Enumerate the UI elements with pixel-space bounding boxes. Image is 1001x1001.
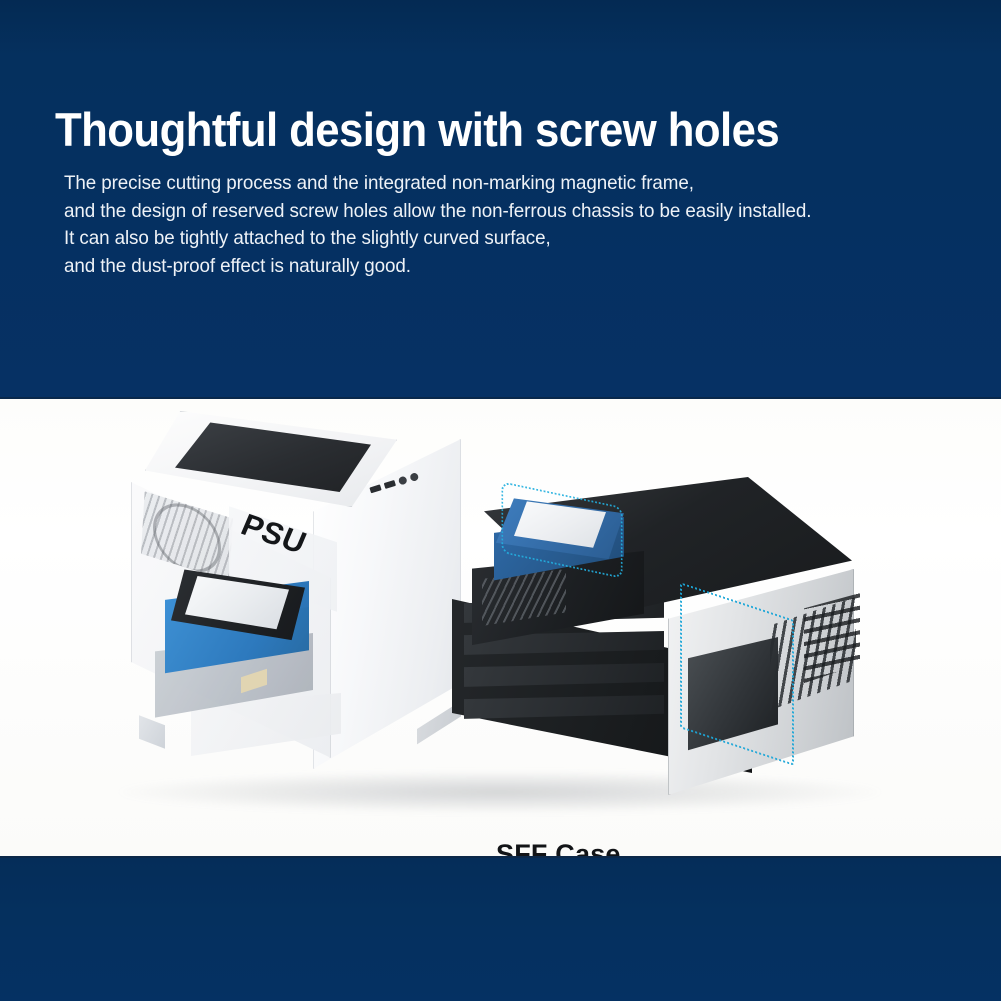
usb-port-icon: [384, 480, 396, 489]
description-line-1: The precise cutting process and the inte…: [64, 170, 933, 198]
drive-bay-cover: [464, 695, 664, 721]
hero-section: Thoughtful design with screw holes The p…: [0, 0, 1001, 399]
atx-tower-case-illustration: PSU: [131, 411, 461, 811]
footer-band: [0, 858, 1001, 1001]
description-line-2: and the design of reserved screw holes a…: [64, 198, 933, 226]
hero-description: The precise cutting process and the inte…: [64, 170, 933, 280]
sff-case-label: SFF Case: [496, 839, 621, 857]
product-photo-panel: PSU: [0, 399, 1001, 857]
usb-port-icon: [369, 484, 381, 493]
page-title: Thoughtful design with screw holes: [55, 103, 779, 157]
description-line-4: and the dust-proof effect is naturally g…: [64, 253, 933, 281]
audio-jack-icon: [398, 476, 408, 486]
sff-case-illustration: [452, 477, 872, 807]
power-button-icon: [409, 472, 419, 482]
product-feature-slide: Thoughtful design with screw holes The p…: [0, 0, 1001, 1001]
atx-foot: [139, 711, 165, 753]
description-line-3: It can also be tightly attached to the s…: [64, 225, 933, 253]
drive-bay-cover: [464, 663, 664, 689]
